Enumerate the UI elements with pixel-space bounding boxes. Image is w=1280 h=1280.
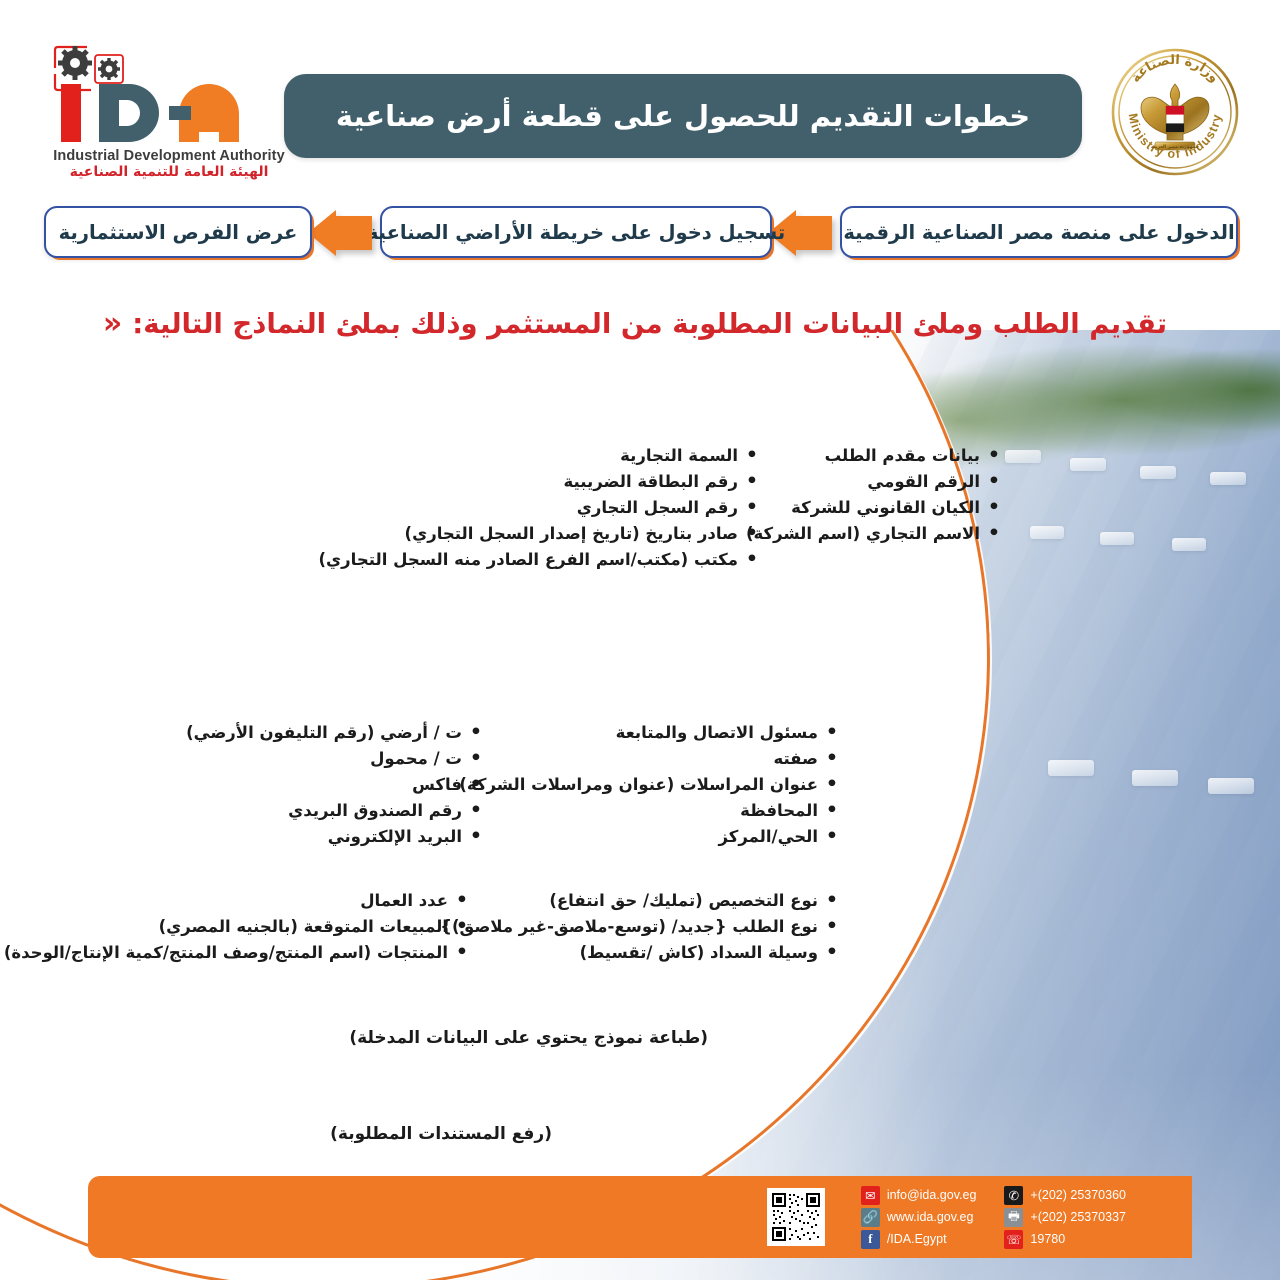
step-4-bullets-left: عدد العمال المبيعات المتوقعة (بالجنيه ال…: [4, 888, 470, 966]
list-item: ت / أرضي (رقم التليفون الأرضي): [186, 720, 484, 746]
infographic-canvas: Industrial Development Authority الهيئة …: [0, 0, 1280, 1280]
footer-hotline-row: ☏ 19780: [1004, 1230, 1126, 1249]
page-title: خطوات التقديم للحصول على قطعة أرض صناعية: [284, 74, 1082, 158]
phone-icon: ✆: [1004, 1186, 1023, 1205]
list-item: الحي/المركز: [459, 824, 840, 850]
headset-icon: ☏: [1004, 1230, 1023, 1249]
flow-step-view-opportunities[interactable]: عرض الفرص الاستثمارية: [44, 206, 312, 258]
list-item: نوع الطلب {جديد/ (توسع-ملاصق-غير ملاصق)}: [440, 914, 840, 940]
subtitle-text: تقديم الطلب وملئ البيانات المطلوبة من ال…: [132, 308, 1167, 340]
link-icon: 🔗: [861, 1208, 880, 1227]
step-3-bullets-left: ت / أرضي (رقم التليفون الأرضي) ت / محمول…: [186, 720, 484, 850]
list-item: المنتجات (اسم المنتج/وصف المنتج/كمية الإ…: [4, 940, 470, 966]
list-item: بيانات مقدم الطلب: [746, 443, 1002, 469]
flow-step-label: تسجيل دخول على خريطة الأراضي الصناعية: [367, 221, 785, 244]
list-item: المبيعات المتوقعة (بالجنيه المصري): [4, 914, 470, 940]
double-chevron-icon: «: [103, 306, 122, 341]
flow-step-label: الدخول على منصة مصر الصناعية الرقمية: [843, 221, 1234, 244]
list-item: عنوان المراسلات (عنوان ومراسلات الشركة): [459, 772, 840, 798]
printer-icon: 🖶: [1004, 1208, 1023, 1227]
list-item: مكتب (مكتب/اسم الفرع الصادر منه السجل ال…: [319, 547, 760, 573]
footer-phone: +(202) 25370360: [1030, 1188, 1126, 1202]
list-item: رقم البطاقة الضريبية: [319, 469, 760, 495]
list-item: الاسم التجاري (اسم الشركة): [746, 521, 1002, 547]
flow-step-enter-platform[interactable]: الدخول على منصة مصر الصناعية الرقمية: [840, 206, 1238, 258]
ida-logo: Industrial Development Authority الهيئة …: [45, 44, 300, 176]
ministry-seal-sub: جمهورية مصر العربية: [1151, 145, 1199, 150]
footer-facebook-row[interactable]: f /IDA.Egypt: [861, 1230, 977, 1249]
ida-wordmark: [45, 74, 300, 146]
facebook-icon: f: [861, 1230, 880, 1249]
step-1-bullets-right: بيانات مقدم الطلب الرقم القومي الكيان ال…: [746, 443, 1002, 547]
list-item: رقم السجل التجاري: [319, 495, 760, 521]
flow-arrow-icon-2: [306, 210, 372, 256]
step-5-note: (طباعة نموذج يحتوي على البيانات المدخلة): [349, 1028, 708, 1048]
list-item: وسيلة السداد (كاش /تقسيط): [440, 940, 840, 966]
qr-code: [767, 1188, 825, 1246]
process-flow-row: الدخول على منصة مصر الصناعية الرقمية تسج…: [0, 198, 1280, 274]
page-title-text: خطوات التقديم للحصول على قطعة أرض صناعية: [336, 99, 1030, 133]
list-item: نوع التخصيص (تمليك/ حق انتفاع): [440, 888, 840, 914]
contact-footer: ✆ +(202) 25370360 🖶 +(202) 25370337 ☏ 19…: [88, 1176, 1192, 1258]
step-6-note: (رفع المستندات المطلوبة): [330, 1124, 552, 1144]
list-item: البريد الإلكتروني: [186, 824, 484, 850]
step-4-bullets-right: نوع التخصيص (تمليك/ حق انتفاع) نوع الطلب…: [440, 888, 840, 966]
footer-phone-column: ✆ +(202) 25370360 🖶 +(202) 25370337 ☏ 19…: [1004, 1186, 1126, 1249]
list-item: عدد العمال: [4, 888, 470, 914]
ministry-of-industry-seal: وزارة الصناعة Ministry of Industry جمهور…: [1100, 42, 1250, 182]
ida-logo-ar: الهيئة العامة للتنمية الصناعية: [45, 164, 293, 180]
footer-email: info@ida.gov.eg: [887, 1188, 977, 1202]
footer-facebook: /IDA.Egypt: [887, 1232, 947, 1246]
footer-website-row[interactable]: 🔗 www.ida.gov.eg: [861, 1208, 977, 1227]
step-3-bullets-right: مسئول الاتصال والمتابعة صفته عنوان المرا…: [459, 720, 840, 850]
list-item: الكيان القانوني للشركة: [746, 495, 1002, 521]
flow-step-login-map[interactable]: تسجيل دخول على خريطة الأراضي الصناعية: [380, 206, 772, 258]
list-item: ت / محمول: [186, 746, 484, 772]
list-item: المحافظة: [459, 798, 840, 824]
footer-phone-row: ✆ +(202) 25370360: [1004, 1186, 1126, 1205]
footer-online-column: ✉ info@ida.gov.eg 🔗 www.ida.gov.eg f /ID…: [861, 1186, 977, 1249]
ida-logo-en: Industrial Development Authority: [45, 148, 293, 164]
footer-hotline: 19780: [1030, 1232, 1065, 1246]
footer-fax-row: 🖶 +(202) 25370337: [1004, 1208, 1126, 1227]
list-item: السمة التجارية: [319, 443, 760, 469]
list-item: فاكس: [186, 772, 484, 798]
footer-email-row[interactable]: ✉ info@ida.gov.eg: [861, 1186, 977, 1205]
footer-fax: +(202) 25370337: [1030, 1210, 1126, 1224]
step-1-bullets-left: السمة التجارية رقم البطاقة الضريبية رقم …: [319, 443, 760, 573]
list-item: مسئول الاتصال والمتابعة: [459, 720, 840, 746]
footer-website: www.ida.gov.eg: [887, 1210, 974, 1224]
list-item: صفته: [459, 746, 840, 772]
mail-icon: ✉: [861, 1186, 880, 1205]
list-item: الرقم القومي: [746, 469, 1002, 495]
flow-step-label: عرض الفرص الاستثمارية: [59, 221, 298, 244]
list-item: صادر بتاريخ (تاريخ إصدار السجل التجاري): [319, 521, 760, 547]
section-subtitle: تقديم الطلب وملئ البيانات المطلوبة من ال…: [20, 306, 1250, 341]
list-item: رقم الصندوق البريدي: [186, 798, 484, 824]
